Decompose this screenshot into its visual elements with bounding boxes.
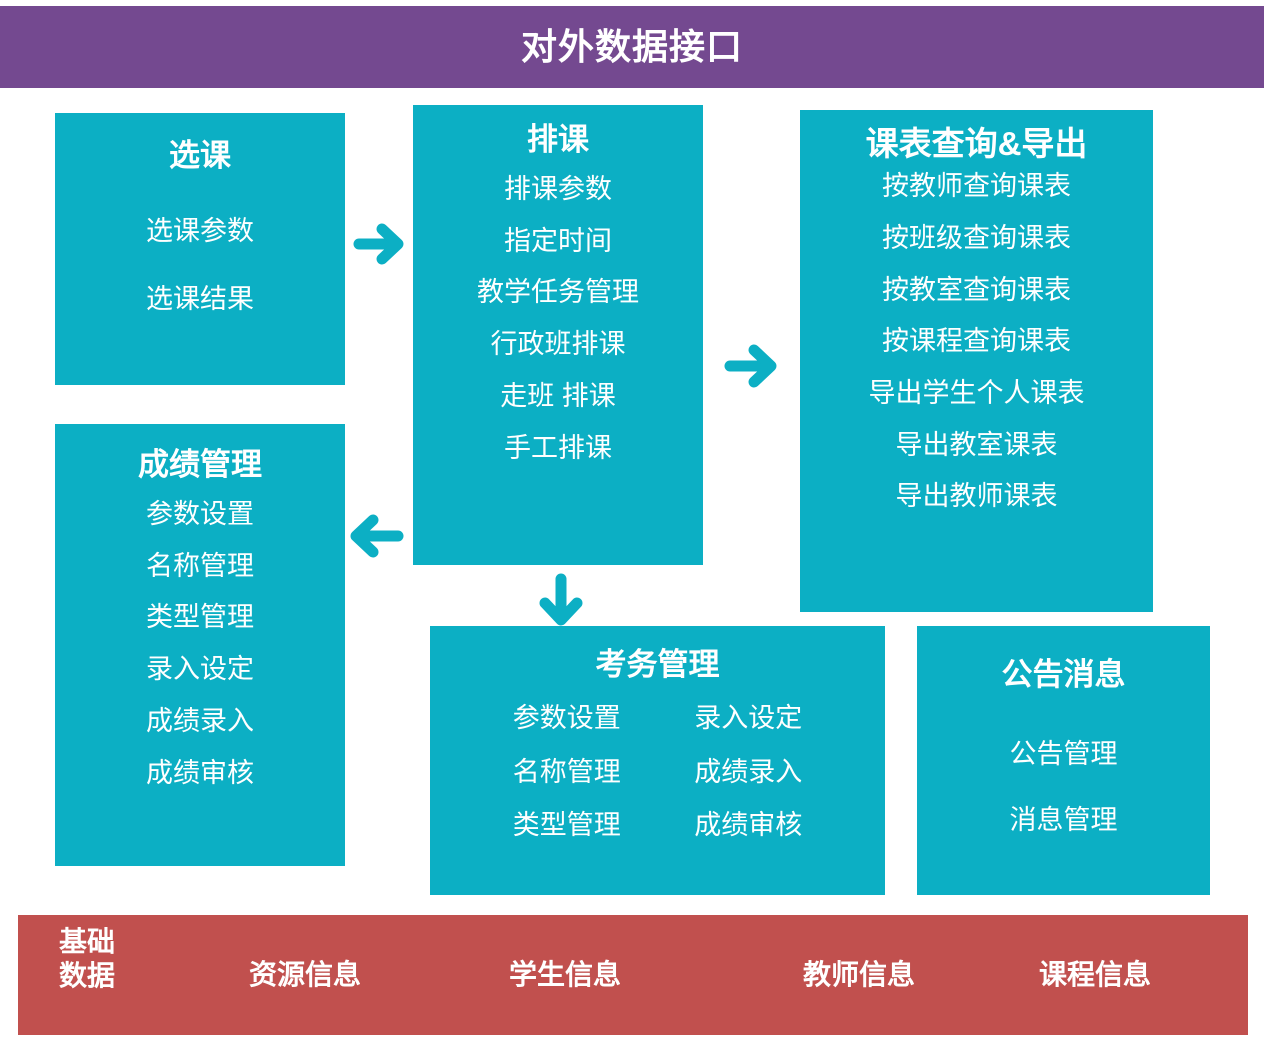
module-timetable-query-export[interactable]: 课表查询&导出 按教师查询课表 按班级查询课表 按教室查询课表 按课程查询课表 … [800, 110, 1153, 612]
banner-title: 对外数据接口 [521, 29, 743, 65]
module-item[interactable]: 成绩审核 [146, 759, 254, 789]
arrow-left-icon [340, 505, 406, 567]
module-item[interactable]: 公告管理 [1010, 740, 1118, 770]
module-item[interactable]: 选课结果 [146, 285, 254, 315]
module-title-exam-affairs: 考务管理 [596, 648, 720, 682]
module-item[interactable]: 导出教师课表 [896, 482, 1058, 512]
bottom-bar-item-teacher-info[interactable]: 教师信息 [803, 958, 915, 992]
module-item[interactable]: 参数设置 [146, 500, 254, 530]
module-title-announcements: 公告消息 [1002, 658, 1126, 692]
module-title-timetable-query-export: 课表查询&导出 [866, 126, 1088, 162]
module-item[interactable]: 成绩审核 [658, 811, 840, 841]
module-course-selection[interactable]: 选课 选课参数 选课结果 [55, 113, 345, 385]
module-item[interactable]: 录入设定 [658, 704, 840, 734]
bottom-bar-base-data-line2: 数据 [59, 959, 115, 993]
module-item[interactable]: 名称管理 [476, 758, 658, 788]
bottom-bar-item-resource-info[interactable]: 资源信息 [249, 958, 361, 992]
module-item[interactable]: 选课参数 [146, 217, 254, 247]
module-announcements[interactable]: 公告消息 公告管理 消息管理 [917, 626, 1210, 895]
module-item[interactable]: 类型管理 [146, 603, 254, 633]
bottom-bar-base-data-line1: 基础 [59, 925, 115, 959]
arrow-down-icon [530, 572, 592, 634]
module-item[interactable]: 手工排课 [504, 434, 612, 464]
module-item[interactable]: 类型管理 [476, 811, 658, 841]
module-title-grade-management: 成绩管理 [138, 448, 262, 482]
arrow-right-icon [352, 213, 410, 275]
module-title-course-selection: 选课 [169, 139, 231, 173]
module-item[interactable]: 成绩录入 [658, 758, 840, 788]
exam-affairs-item-grid: 参数设置 录入设定 名称管理 成绩录入 类型管理 成绩审核 [430, 704, 885, 841]
arrow-right-icon [722, 335, 784, 397]
module-item[interactable]: 消息管理 [1010, 806, 1118, 836]
module-item[interactable]: 导出学生个人课表 [869, 379, 1085, 409]
module-exam-affairs[interactable]: 考务管理 参数设置 录入设定 名称管理 成绩录入 类型管理 成绩审核 [430, 626, 885, 895]
module-item[interactable]: 成绩录入 [146, 707, 254, 737]
module-item[interactable]: 指定时间 [504, 227, 612, 257]
module-item[interactable]: 走班 排课 [500, 382, 616, 412]
module-item[interactable]: 排课参数 [504, 175, 612, 205]
module-item[interactable]: 按课程查询课表 [882, 327, 1071, 357]
module-title-scheduling: 排课 [527, 123, 589, 157]
bottom-bar-item-course-info[interactable]: 课程信息 [1039, 958, 1151, 992]
module-item[interactable]: 按教师查询课表 [882, 172, 1071, 202]
module-item[interactable]: 行政班排课 [491, 330, 626, 360]
module-item[interactable]: 按班级查询课表 [882, 224, 1071, 254]
bottom-bar-base-data-label[interactable]: 基础 数据 [59, 925, 115, 993]
module-grade-management[interactable]: 成绩管理 参数设置 名称管理 类型管理 录入设定 成绩录入 成绩审核 [55, 424, 345, 866]
module-scheduling[interactable]: 排课 排课参数 指定时间 教学任务管理 行政班排课 走班 排课 手工排课 [413, 105, 703, 565]
module-item[interactable]: 名称管理 [146, 552, 254, 582]
module-item[interactable]: 教学任务管理 [477, 278, 639, 308]
module-item[interactable]: 参数设置 [476, 704, 658, 734]
module-item[interactable]: 录入设定 [146, 655, 254, 685]
module-item[interactable]: 导出教室课表 [896, 431, 1058, 461]
external-data-interface-banner: 对外数据接口 [0, 6, 1264, 88]
module-item[interactable]: 按教室查询课表 [882, 276, 1071, 306]
bottom-bar-item-student-info[interactable]: 学生信息 [509, 958, 621, 992]
